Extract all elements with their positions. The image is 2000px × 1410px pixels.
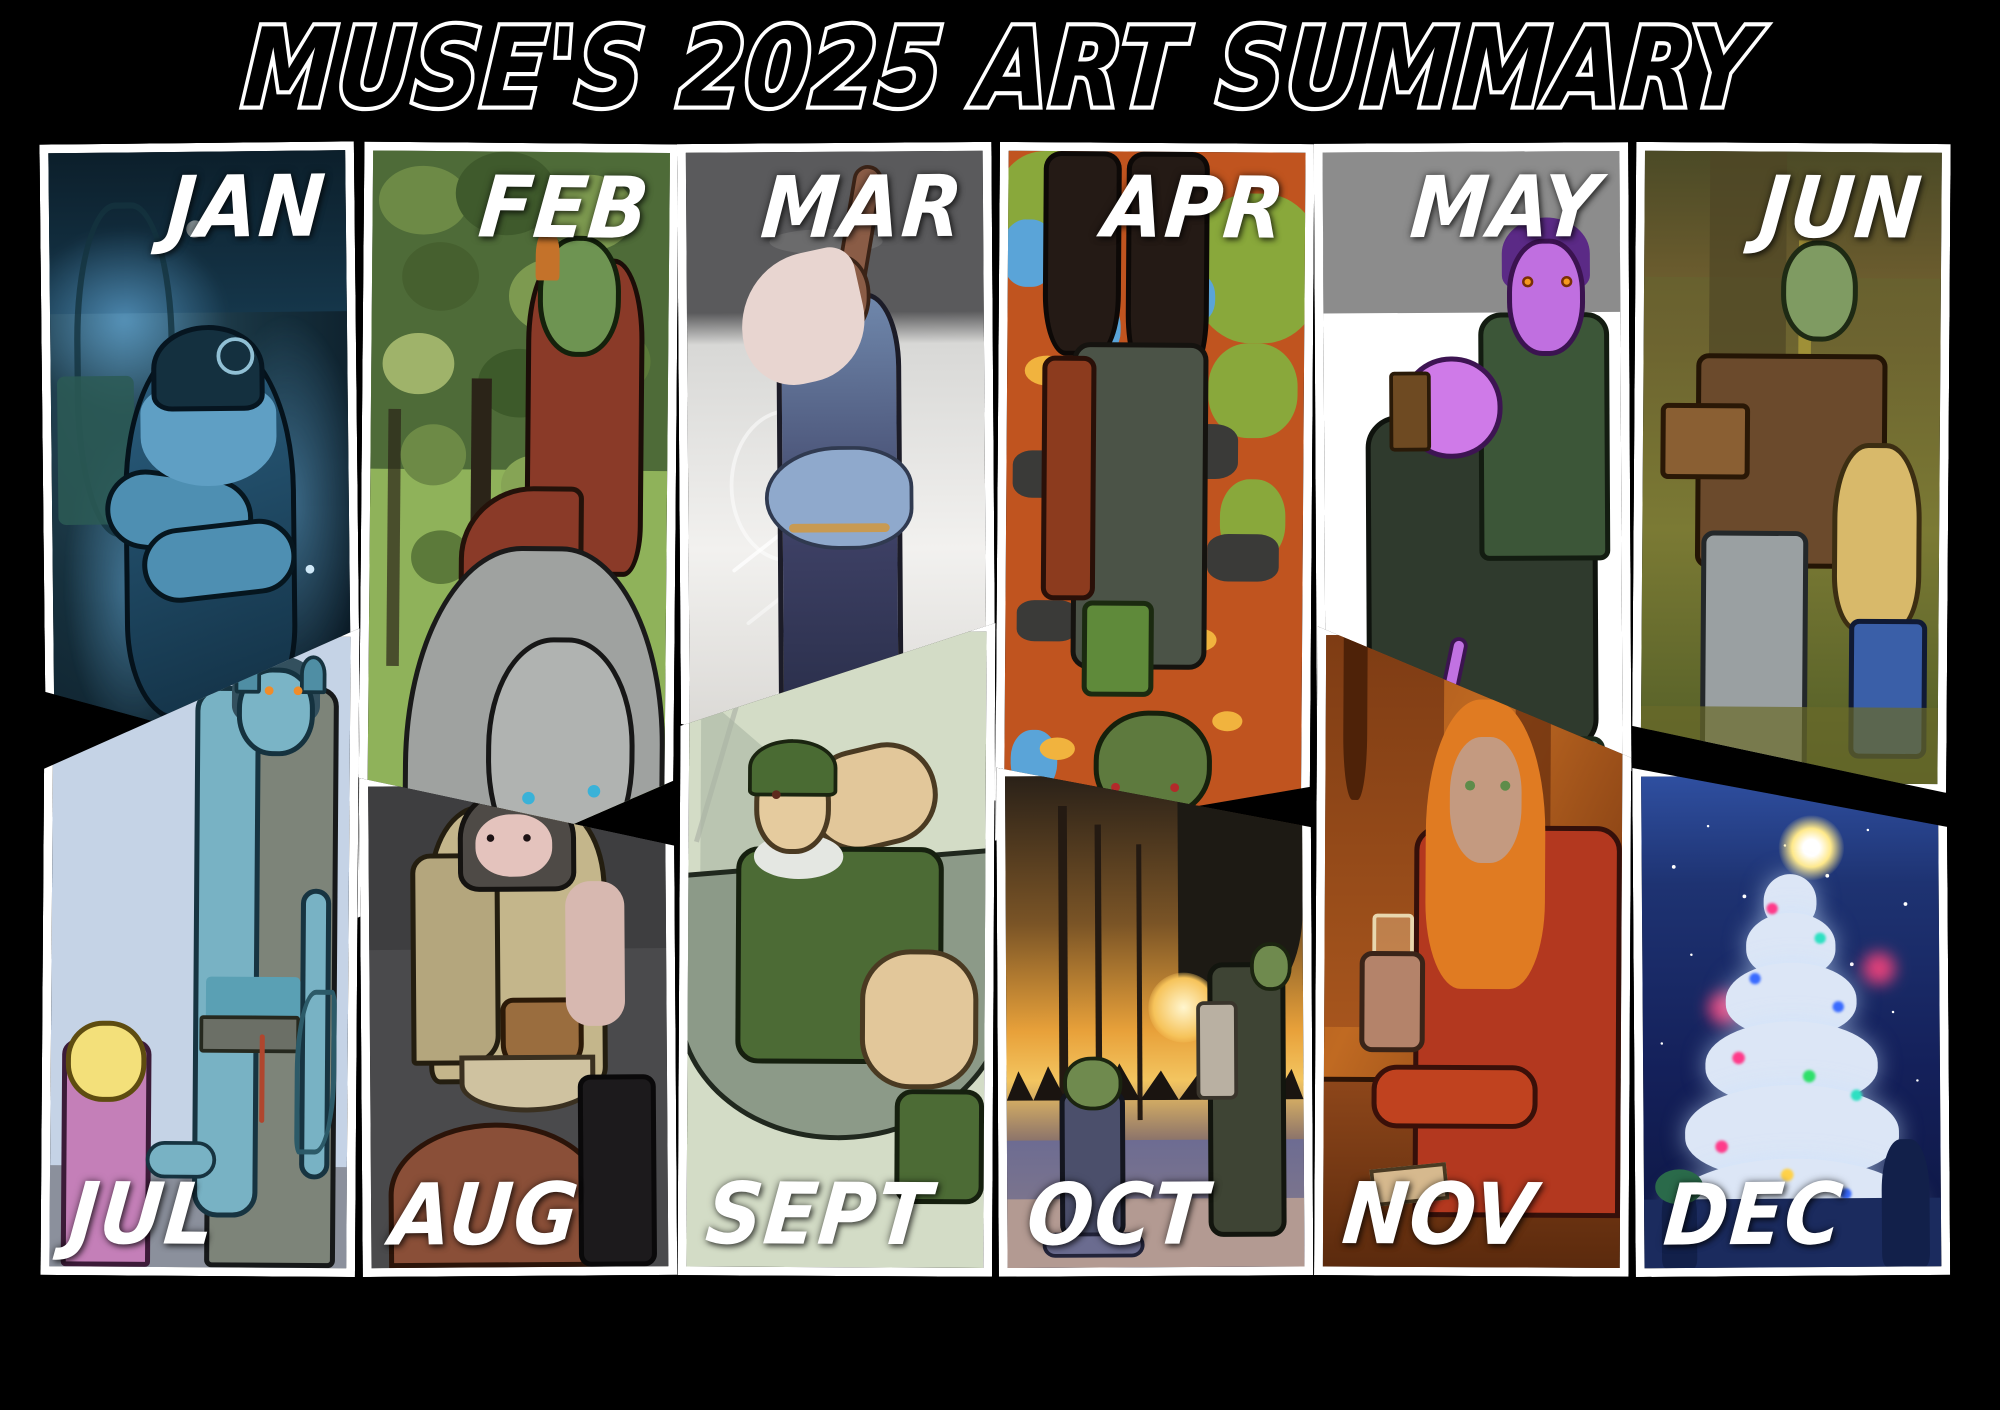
page-title: Muse's 2025 Art Summary xyxy=(239,5,1761,131)
panel-dec-art xyxy=(1641,775,1941,1269)
panel-apr[interactable]: Apr xyxy=(995,142,1314,843)
panel-aug-art xyxy=(368,785,668,1269)
panel-oct-art xyxy=(1005,775,1304,1268)
panel-jun-art xyxy=(1641,151,1942,784)
panel-jul[interactable]: Jul xyxy=(40,626,359,1277)
panel-jun[interactable]: Jun xyxy=(1632,142,1951,793)
panel-apr-art xyxy=(1004,151,1306,834)
panel-sept-art xyxy=(686,630,986,1268)
panel-dec[interactable]: Dec xyxy=(1632,766,1950,1277)
panel-aug[interactable]: Aug xyxy=(359,776,677,1277)
panel-oct[interactable]: Oct xyxy=(996,766,1313,1277)
panel-jul-art xyxy=(49,635,350,1268)
title-bar: Muse's 2025 Art Summary xyxy=(0,8,2000,128)
month-panel-grid: Jan xyxy=(0,128,2000,1410)
panel-sept[interactable]: Sept xyxy=(678,621,996,1276)
